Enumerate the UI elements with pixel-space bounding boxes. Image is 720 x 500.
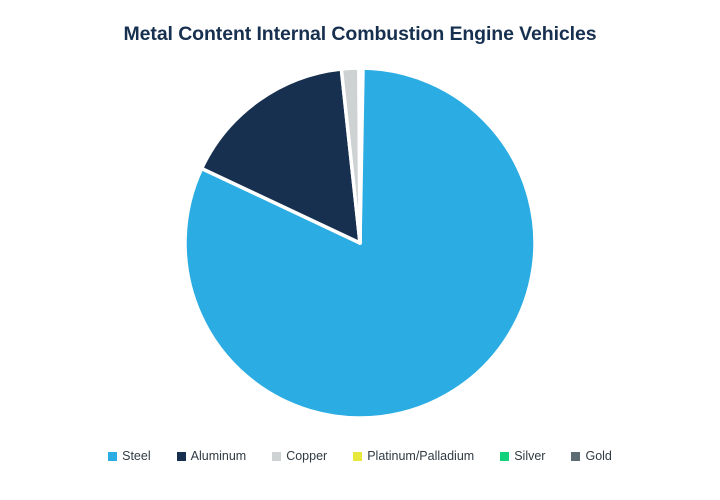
- legend-item-gold[interactable]: Gold: [571, 449, 611, 463]
- pie-slice-group: [185, 68, 535, 418]
- pie-chart-svg: [0, 0, 720, 440]
- legend-swatch-icon: [571, 452, 580, 461]
- legend-item-label: Platinum/Palladium: [367, 449, 474, 463]
- legend-swatch-icon: [500, 452, 509, 461]
- legend-item-label: Steel: [122, 449, 151, 463]
- legend-item-copper[interactable]: Copper: [272, 449, 327, 463]
- legend-item-platinum-palladium[interactable]: Platinum/Palladium: [353, 449, 474, 463]
- chart-legend: SteelAluminumCopperPlatinum/PalladiumSil…: [0, 449, 720, 463]
- legend-item-aluminum[interactable]: Aluminum: [177, 449, 247, 463]
- legend-swatch-icon: [108, 452, 117, 461]
- legend-item-label: Aluminum: [191, 449, 247, 463]
- legend-swatch-icon: [177, 452, 186, 461]
- legend-swatch-icon: [353, 452, 362, 461]
- legend-item-steel[interactable]: Steel: [108, 449, 151, 463]
- legend-item-label: Gold: [585, 449, 611, 463]
- legend-item-silver[interactable]: Silver: [500, 449, 545, 463]
- pie-chart-plot-area: [0, 0, 720, 440]
- legend-item-label: Silver: [514, 449, 545, 463]
- legend-swatch-icon: [272, 452, 281, 461]
- legend-item-label: Copper: [286, 449, 327, 463]
- pie-chart-card: Metal Content Internal Combustion Engine…: [0, 0, 720, 500]
